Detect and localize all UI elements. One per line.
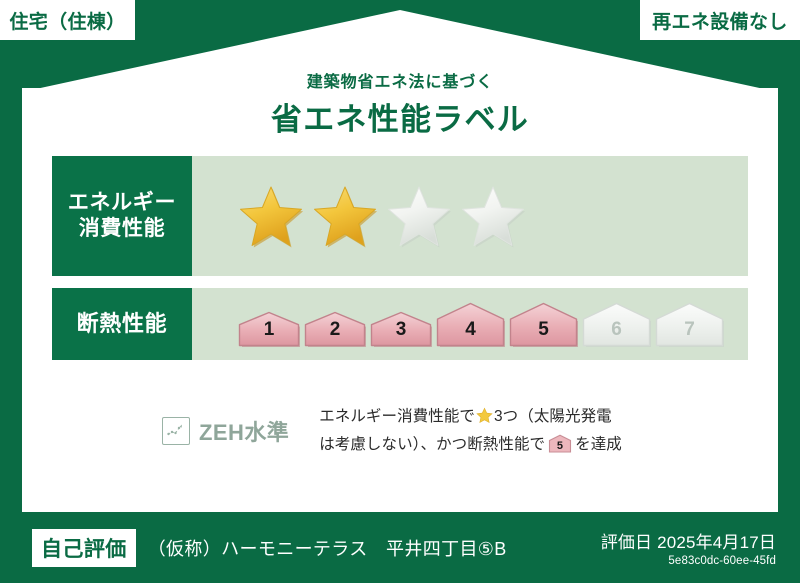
- star-filled-icon: [312, 184, 378, 248]
- insulation-level-number: 2: [304, 319, 366, 341]
- zeh-desc-part3: は考慮しない）、かつ断熱性能で: [319, 436, 545, 453]
- panel-insulation-performance: 断熱性能 1234567: [52, 288, 748, 360]
- zeh-description: エネルギー消費性能で3つ（太陽光発電は考慮しない）、かつ断熱性能で5を達成: [319, 404, 622, 461]
- panel-energy-body: [192, 156, 748, 276]
- insulation-level-3: 3: [370, 311, 432, 347]
- star-icon: [476, 411, 493, 428]
- title-subtitle: 建築物省エネ法に基づく: [0, 68, 800, 92]
- insulation-level-4: 4: [436, 302, 505, 347]
- panel-energy-label-line2: 消費性能: [79, 216, 166, 242]
- insulation-level-5: 5: [509, 302, 578, 347]
- insulation-level-6: 6: [582, 302, 651, 347]
- panel-energy-performance: エネルギー 消費性能: [52, 156, 748, 276]
- zeh-label: ZEH水準: [199, 415, 289, 447]
- insulation-level-number: 5: [509, 319, 578, 341]
- panel-energy-label: エネルギー 消費性能: [52, 156, 192, 276]
- insulation-level-number: 4: [436, 319, 505, 341]
- panel-insulation-body: 1234567: [192, 288, 748, 360]
- evaluation-date: 評価日 2025年4月17日: [601, 528, 776, 553]
- evaluation-date-block: 評価日 2025年4月17日 5e83c0dc-60ee-45fd: [601, 528, 776, 567]
- trend-chart-icon: [162, 417, 190, 445]
- inline-house-badge: 5: [548, 440, 572, 457]
- footer-bar: 自己評価 （仮称）ハーモニーテラス 平井四丁目⑤B 評価日 2025年4月17日…: [0, 512, 800, 583]
- self-evaluation-badge: 自己評価: [32, 529, 136, 567]
- star-rating: [238, 184, 526, 248]
- insulation-level-scale: 1234567: [238, 302, 724, 347]
- insulation-level-2: 2: [304, 311, 366, 347]
- label-uuid: 5e83c0dc-60ee-45fd: [601, 555, 776, 567]
- svg-text:5: 5: [557, 440, 563, 452]
- insulation-level-1: 1: [238, 311, 300, 347]
- star-empty-icon: [460, 184, 526, 248]
- zeh-standard-row: ZEH水準 エネルギー消費性能で3つ（太陽光発電は考慮しない）、かつ断熱性能で5…: [52, 404, 748, 476]
- energy-performance-label: 住宅（住棟） 再エネ設備なし 建築物省エネ法に基づく 省エネ性能ラベル エネルギ…: [0, 0, 800, 583]
- tag-renewable-energy: 再エネ設備なし: [640, 0, 800, 40]
- zeh-desc-part1: エネルギー消費性能で: [319, 408, 475, 425]
- panel-insulation-label: 断熱性能: [52, 288, 192, 360]
- title-main: 省エネ性能ラベル: [0, 94, 800, 139]
- zeh-desc-part4: を達成: [575, 436, 622, 453]
- zeh-desc-part2: 3つ（太陽光発電: [494, 408, 612, 425]
- tag-building-type: 住宅（住棟）: [0, 0, 135, 40]
- panel-energy-label-line1: エネルギー: [68, 190, 176, 216]
- zeh-mark: ZEH水準: [162, 415, 289, 447]
- star-filled-icon: [238, 184, 304, 248]
- insulation-level-number: 1: [238, 319, 300, 341]
- insulation-level-7: 7: [655, 302, 724, 347]
- star-empty-icon: [386, 184, 452, 248]
- insulation-level-number: 3: [370, 319, 432, 341]
- building-name: （仮称）ハーモニーテラス 平井四丁目⑤B: [148, 535, 507, 561]
- insulation-level-number: 6: [582, 319, 651, 341]
- insulation-level-number: 7: [655, 319, 724, 341]
